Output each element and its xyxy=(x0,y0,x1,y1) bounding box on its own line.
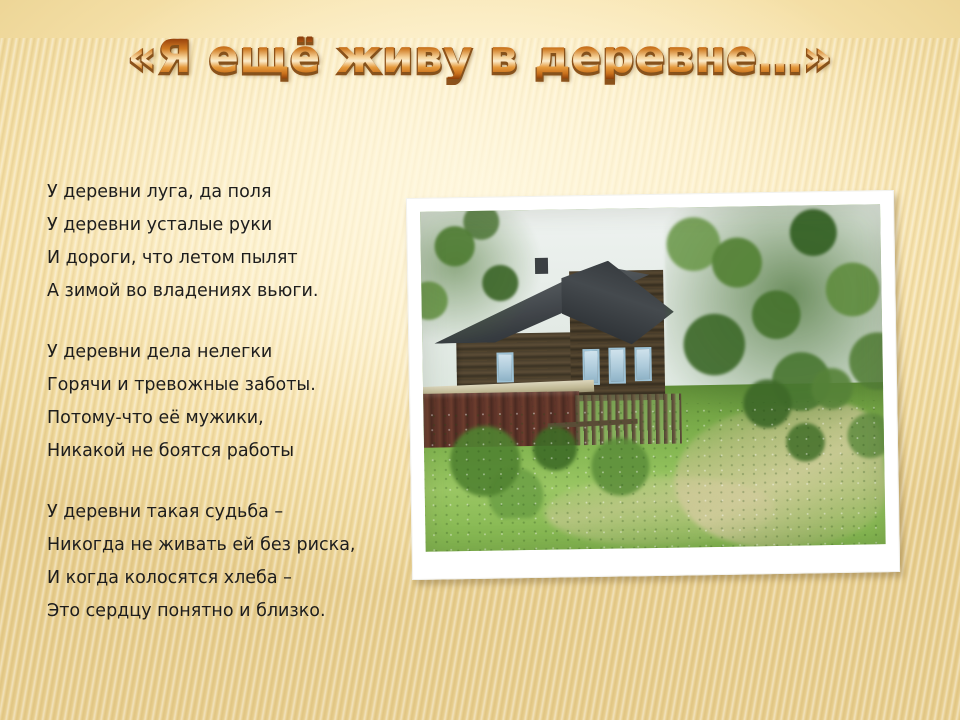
poem-line: У деревни луга, да поля xyxy=(47,176,397,209)
poem-line: У деревни такая судьба – xyxy=(47,496,397,529)
photo-frame xyxy=(406,190,900,580)
poem-stanza: У деревни луга, да поля У деревни усталы… xyxy=(47,176,397,308)
poem-stanza: У деревни дела нелегки Горячи и тревожны… xyxy=(47,336,397,468)
village-house-photo xyxy=(420,204,886,552)
poem-line: Потому-что её мужики, xyxy=(47,402,397,435)
slide-canvas: «Я ещё живу в деревне…» «Я ещё живу в де… xyxy=(0,0,960,720)
poem-line: У деревни дела нелегки xyxy=(47,336,397,369)
poem-line: Никогда не живать ей без риска, xyxy=(47,529,397,562)
photo-tree-left xyxy=(420,204,546,352)
photo-grass-texture xyxy=(423,400,885,552)
photo-house-window xyxy=(634,347,652,381)
poem-line: У деревни усталые руки xyxy=(47,209,397,242)
poem-line: И дороги, что летом пылят xyxy=(47,242,397,275)
photo-house-window xyxy=(496,352,513,382)
poem-line: Это сердцу понятно и близко. xyxy=(47,595,397,628)
poem-line: И когда колосятся хлеба – xyxy=(47,562,397,595)
poem-text-block: У деревни луга, да поля У деревни усталы… xyxy=(47,176,397,628)
poem-line: Никакой не боятся работы xyxy=(47,435,397,468)
slide-title-shadow: «Я ещё живу в деревне…» xyxy=(0,36,960,81)
poem-line: А зимой во владениях вьюги. xyxy=(47,275,397,308)
photo-house-window xyxy=(608,347,626,383)
poem-line: Горячи и тревожные заботы. xyxy=(47,369,397,402)
poem-stanza: У деревни такая судьба – Никогда не жива… xyxy=(47,496,397,628)
